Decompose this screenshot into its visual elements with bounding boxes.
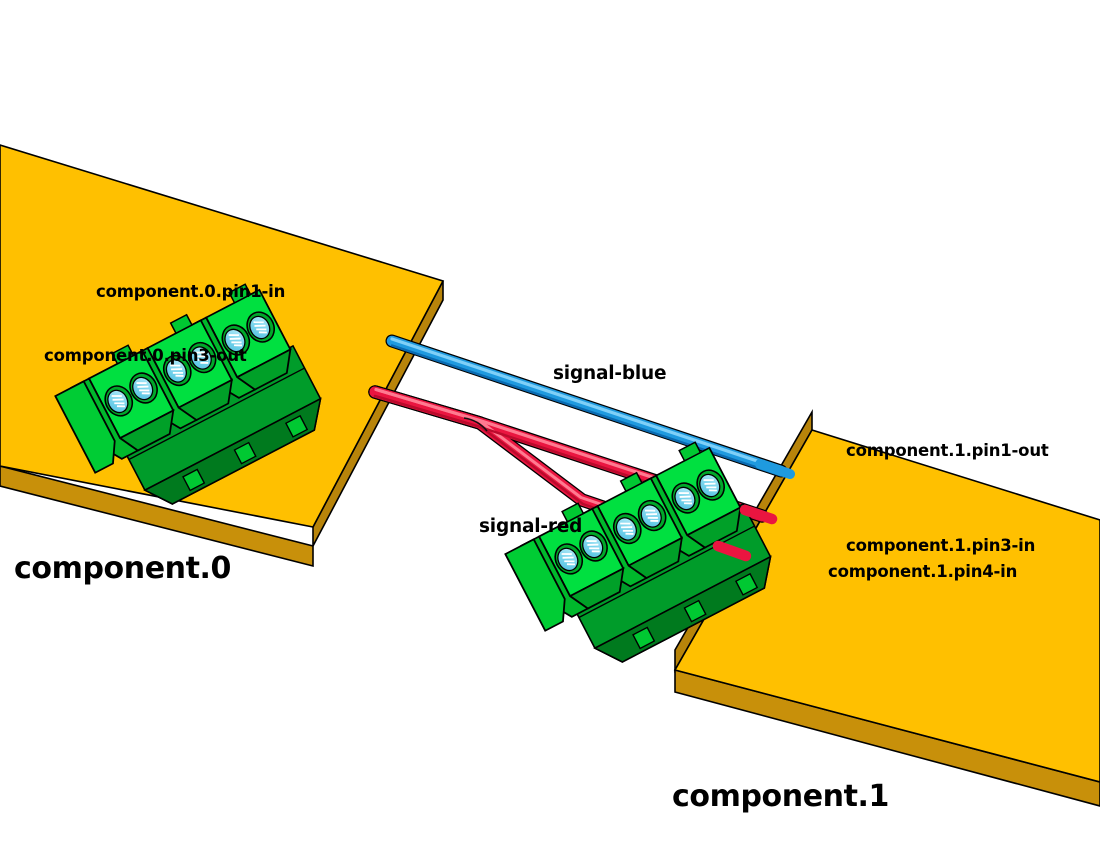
diagram-canvas bbox=[0, 0, 1100, 850]
board-label-component-0: component.0 bbox=[14, 554, 231, 584]
board-label-component-1: component.1 bbox=[672, 782, 889, 812]
signal-label-signal-blue: signal-blue bbox=[553, 365, 666, 384]
signal-label-signal-red: signal-red bbox=[479, 518, 582, 537]
pin-label-component-1-pin3-in: component.1.pin3-in bbox=[846, 538, 1035, 555]
pin-label-component-1-pin1-out: component.1.pin1-out bbox=[846, 443, 1049, 460]
pin-label-component-0-pin3-out: component.0.pin3-out bbox=[44, 348, 247, 365]
board-component-1 bbox=[675, 412, 1100, 806]
pin-label-component-0-pin1-in: component.0.pin1-in bbox=[96, 284, 285, 301]
wiring-diagram-scene: component.0.pin1-in component.0.pin3-out… bbox=[0, 0, 1100, 850]
pin-label-component-1-pin4-in: component.1.pin4-in bbox=[828, 564, 1017, 581]
wire-blue-highlight bbox=[392, 339, 781, 469]
